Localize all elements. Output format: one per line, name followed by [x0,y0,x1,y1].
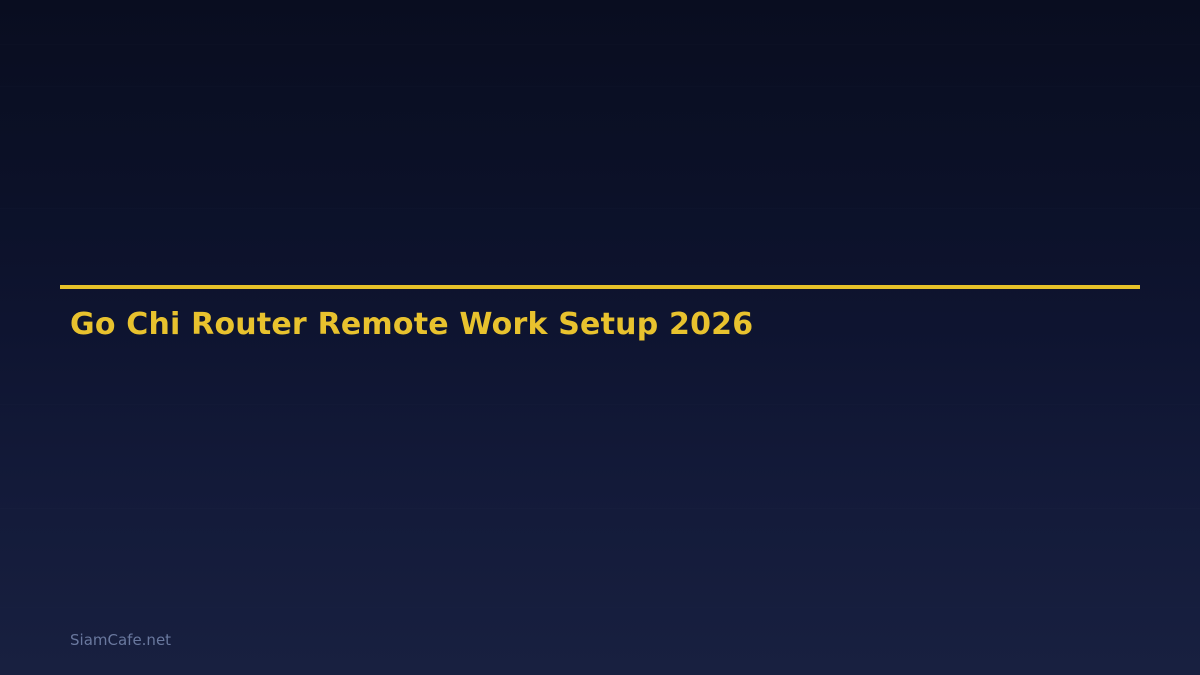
page-title: Go Chi Router Remote Work Setup 2026 [70,305,753,345]
accent-rule [60,285,1140,289]
gradient-band [0,404,1200,405]
gradient-band [0,44,1200,45]
gradient-band [0,508,1200,509]
footer-attribution: SiamCafe.net [70,630,171,650]
gradient-band [0,86,1200,87]
title-block: Go Chi Router Remote Work Setup 2026 [60,285,1140,289]
gradient-band [0,607,1200,608]
gradient-band [0,208,1200,209]
presentation-slide: Go Chi Router Remote Work Setup 2026 Sia… [0,0,1200,675]
